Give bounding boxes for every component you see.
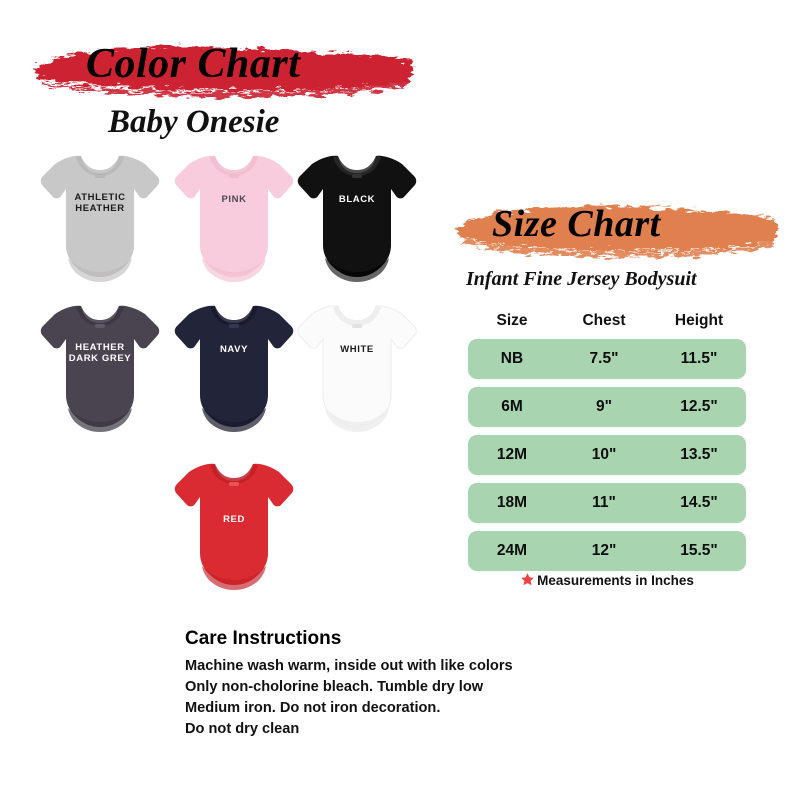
care-instructions-title: Care Instructions [185, 628, 513, 650]
onesie-icon [172, 458, 296, 593]
table-row: 24M 12" 15.5" [468, 531, 746, 571]
column-header-height: Height [652, 312, 746, 330]
cell-height: 12.5" [652, 398, 746, 416]
onesie-swatch-navy[interactable]: NAVY [172, 300, 296, 435]
column-header-size: Size [468, 312, 556, 330]
onesie-icon [38, 300, 162, 435]
cell-size: NB [468, 350, 556, 368]
care-instructions-line: Do not dry clean [185, 719, 513, 740]
onesie-icon [172, 300, 296, 435]
measurements-note: Measurements in Inches [468, 572, 746, 590]
cell-size: 6M [468, 398, 556, 416]
cell-height: 14.5" [652, 494, 746, 512]
size-chart-page: Color Chart Baby Onesie Size Chart Infan… [0, 0, 800, 800]
onesie-icon [172, 150, 296, 285]
table-row: NB 7.5" 11.5" [468, 339, 746, 379]
size-chart-subtitle: Infant Fine Jersey Bodysuit [466, 268, 697, 291]
table-row: 12M 10" 13.5" [468, 435, 746, 475]
cell-chest: 7.5" [556, 350, 652, 368]
onesie-swatch-white[interactable]: WHITE [295, 300, 419, 435]
size-chart-heading: Size Chart [452, 198, 782, 260]
cell-chest: 10" [556, 446, 652, 464]
cell-chest: 9" [556, 398, 652, 416]
onesie-swatch-athletic-heather[interactable]: ATHLETICHEATHER [38, 150, 162, 285]
care-instructions: Care Instructions Machine wash warm, ins… [185, 628, 513, 740]
table-row: 6M 9" 12.5" [468, 387, 746, 427]
cell-size: 12M [468, 446, 556, 464]
care-instructions-line: Machine wash warm, inside out with like … [185, 656, 513, 677]
onesie-icon [295, 300, 419, 435]
table-row: 18M 11" 14.5" [468, 483, 746, 523]
cell-height: 13.5" [652, 446, 746, 464]
size-chart-title: Size Chart [492, 202, 661, 246]
care-instructions-line: Medium iron. Do not iron decoration. [185, 698, 513, 719]
cell-height: 15.5" [652, 542, 746, 560]
onesie-swatch-red[interactable]: RED [172, 458, 296, 593]
care-instructions-line: Only non-cholorine bleach. Tumble dry lo… [185, 677, 513, 698]
measurements-note-text: Measurements in Inches [537, 573, 694, 588]
star-icon [520, 572, 535, 590]
column-header-chest: Chest [556, 312, 652, 330]
onesie-icon [38, 150, 162, 285]
cell-height: 11.5" [652, 350, 746, 368]
table-header-row: Size Chest Height [468, 312, 746, 339]
color-chart-subtitle: Baby Onesie [108, 104, 279, 141]
cell-size: 24M [468, 542, 556, 560]
onesie-swatch-pink[interactable]: PINK [172, 150, 296, 285]
cell-chest: 11" [556, 494, 652, 512]
color-chart-title: Color Chart [86, 40, 300, 88]
size-chart-table: Size Chest Height NB 7.5" 11.5" 6M 9" 12… [468, 312, 746, 579]
cell-size: 18M [468, 494, 556, 512]
color-chart-heading: Color Chart [28, 38, 418, 100]
onesie-icon [295, 150, 419, 285]
onesie-swatch-heather-dark-grey[interactable]: HEATHERDARK GREY [38, 300, 162, 435]
cell-chest: 12" [556, 542, 652, 560]
onesie-swatch-black[interactable]: BLACK [295, 150, 419, 285]
